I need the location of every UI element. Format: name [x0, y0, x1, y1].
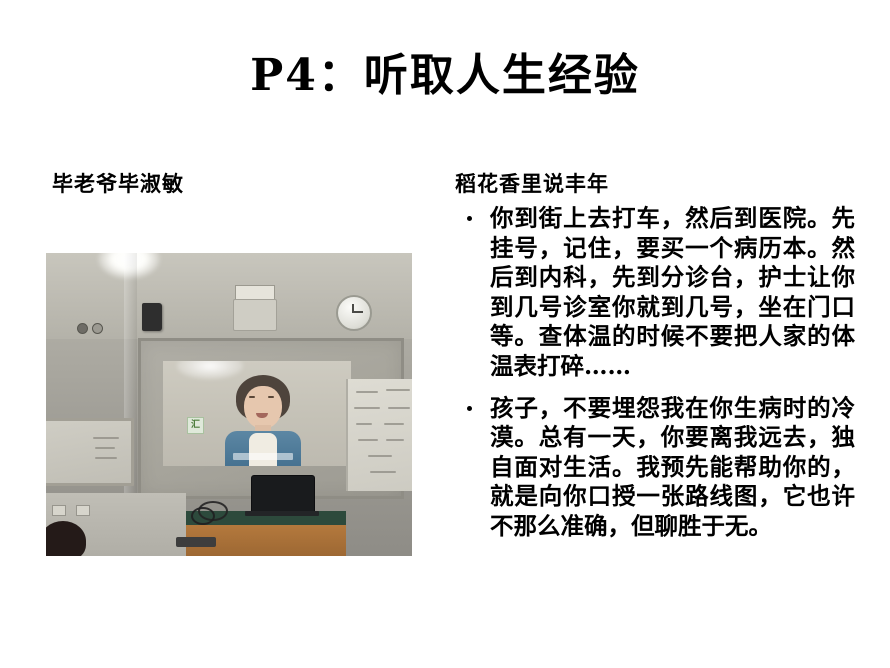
list-item: 你到街上去打车，然后到医院。先挂号，记住，要买一个病历本。然后到内科，先到分诊台…: [455, 204, 855, 382]
whiteboard-scribble: [368, 455, 392, 457]
whiteboard-right: [346, 379, 412, 491]
whiteboard-scribble: [388, 407, 410, 409]
wall-clock-icon: [336, 295, 372, 331]
whiteboard-scribble: [384, 423, 404, 425]
classroom-photo: 汇: [46, 253, 412, 556]
page-title: P4：听取人生经验: [0, 52, 890, 100]
wall-outlet-icon: [52, 505, 66, 516]
bullet-dot-icon: [467, 216, 472, 221]
person-on-screen: [223, 375, 303, 466]
wall-projector-unit: [233, 285, 275, 331]
bullet-list: 你到街上去打车，然后到医院。先挂号，记住，要买一个病历本。然后到内科，先到分诊台…: [455, 204, 855, 542]
whiteboard-scribble: [95, 447, 115, 449]
speaker-icon: [142, 303, 162, 331]
wall-knob-icon: [77, 323, 88, 334]
wall-outlet-icon: [76, 505, 90, 516]
whiteboard-scribble: [95, 457, 117, 459]
right-column: 稻花香里说丰年 你到街上去打车，然后到医院。先挂号，记住，要买一个病历本。然后到…: [455, 168, 855, 554]
wall-unit-body: [233, 299, 277, 331]
right-column-heading: 稻花香里说丰年: [455, 168, 855, 198]
projected-video: 汇: [163, 361, 351, 466]
laptop-screen: [251, 475, 315, 515]
person-eye-left: [249, 396, 255, 398]
person-shirt: [249, 433, 277, 466]
list-item: 孩子，不要埋怨我在你生病时的冷漠。总有一天，你要离我远去，独自面对生活。我预先能…: [455, 394, 855, 542]
whiteboard-scribble: [356, 391, 378, 393]
cable: [191, 507, 215, 525]
whiteboard-scribble: [370, 471, 396, 473]
person-eye-right: [268, 396, 274, 398]
left-column-heading: 毕老爷毕淑敏: [52, 168, 426, 198]
whiteboard-left: [46, 418, 134, 486]
whiteboard-scribble: [386, 439, 404, 441]
bullet-dot-icon: [467, 406, 472, 411]
whiteboard-scribble: [356, 423, 372, 425]
whiteboard-scribble: [354, 407, 380, 409]
list-item-text: 你到街上去打车，然后到医院。先挂号，记住，要买一个病历本。然后到内科，先到分诊台…: [490, 204, 855, 380]
person-face: [244, 386, 282, 429]
laptop-base: [245, 511, 319, 516]
wall-unit-top: [235, 285, 275, 300]
list-item-text: 孩子，不要埋怨我在你生病时的冷漠。总有一天，你要离我远去，独自面对生活。我预先能…: [490, 394, 855, 540]
tv-watermark-icon: 汇: [187, 417, 204, 434]
wall-knob-icon: [92, 323, 103, 334]
photo-scene: 汇: [46, 253, 412, 556]
video-subtitle-bar: [233, 453, 293, 460]
power-strip: [176, 537, 216, 547]
whiteboard-scribble: [386, 389, 410, 391]
whiteboard-scribble: [358, 439, 378, 441]
whiteboard-scribble: [93, 437, 119, 439]
left-column: 毕老爷毕淑敏: [46, 168, 426, 198]
